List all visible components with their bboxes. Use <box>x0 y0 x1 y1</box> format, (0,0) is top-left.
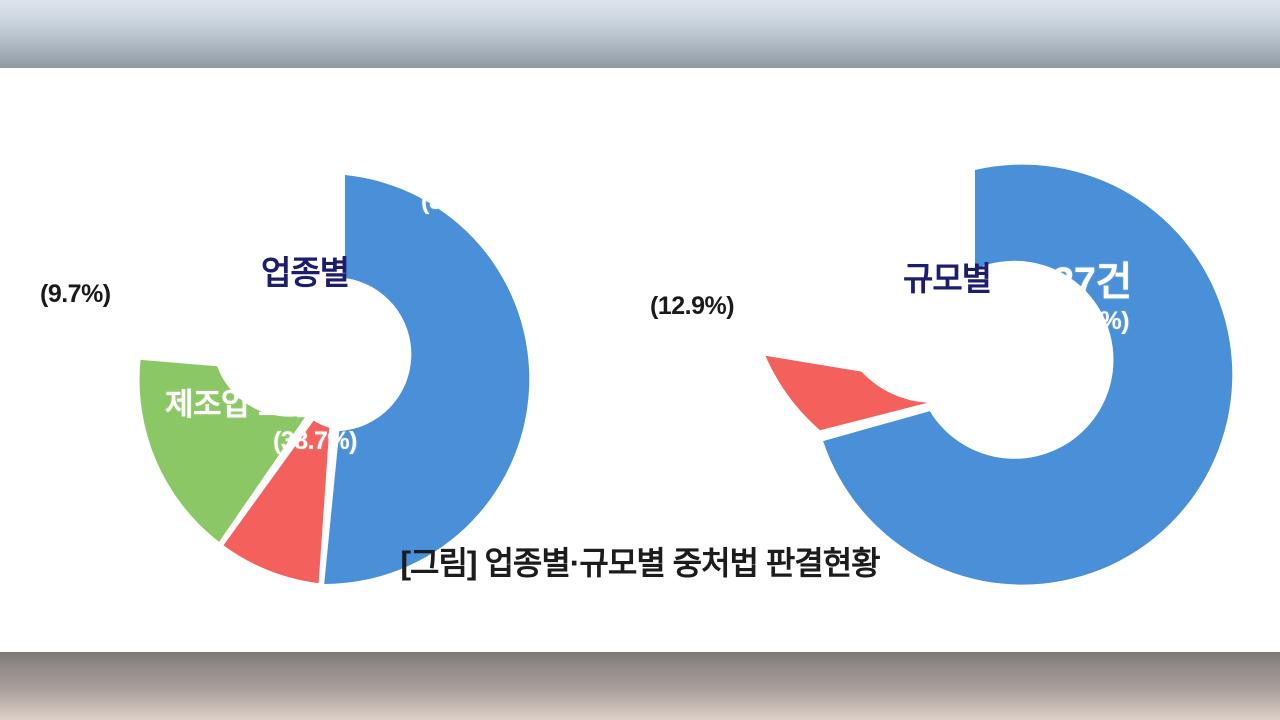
slice-label-sme: 중소기업 <box>855 133 967 166</box>
slice-label-midsize-count: 4건 <box>760 299 858 320</box>
figure-stage: 건설업 16건 (51.6%) 제조업 12건 (38.7%) 기타 3건 (9… <box>0 68 1280 652</box>
slice-percent-manufacturing: (38.7%) <box>210 428 420 455</box>
slice-label-other: 기타 3건 <box>145 258 219 303</box>
slice-label-construction: 건설업 16건 <box>173 148 327 181</box>
donut-chart-industry: 건설업 16건 (51.6%) 제조업 12건 (38.7%) 기타 3건 (9… <box>55 68 655 538</box>
letterbox-bottom <box>0 652 1280 720</box>
slice-sme <box>823 165 1232 585</box>
slice-percent-other: (9.7%) <box>40 281 111 308</box>
slice-percent-sme: (87.1%) <box>1045 308 1129 335</box>
slice-label-midsize: 중견기업 4건 <box>760 278 858 319</box>
charts-row: 건설업 16건 (51.6%) 제조업 12건 (38.7%) 기타 3건 (9… <box>0 68 1280 538</box>
donut-chart-size: 중소기업 27건 (87.1%) 중견기업 4건 (12.9%) 규모별 <box>660 68 1280 538</box>
donut-b-svg <box>660 68 1280 538</box>
figure-caption: [그림] 업종별·규모별 중처법 판결현황 <box>0 538 1280 584</box>
slice-label-midsize-name: 중견기업 <box>760 278 858 299</box>
donut-center-label-size: 규모별 <box>882 261 1012 297</box>
letterbox-top <box>0 0 1280 68</box>
slice-construction <box>324 175 529 584</box>
donut-center-label-industry: 업종별 <box>245 255 365 291</box>
slice-label-other-name: 기타 <box>145 258 219 281</box>
slice-count-sme: 27건 <box>1052 261 1132 304</box>
slice-label-other-count: 3건 <box>145 281 219 304</box>
slice-label-manufacturing: 제조업 12건 <box>165 388 319 421</box>
slice-percent-construction: (51.6%) <box>305 188 505 215</box>
slice-percent-midsize: (12.9%) <box>650 293 734 320</box>
